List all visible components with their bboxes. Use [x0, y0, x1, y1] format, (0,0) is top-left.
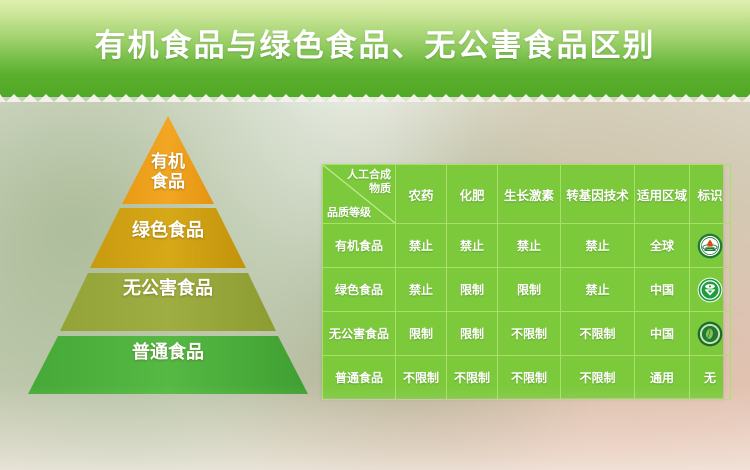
- column-header-fertilizer: 化肥: [447, 165, 498, 224]
- table-corner-cell: 人工合成 物质 品质等级: [323, 165, 396, 224]
- cell-green-growth-hormone: 限制: [498, 268, 561, 312]
- cell-ordinary-mark: 无: [690, 356, 731, 400]
- cell-organic-pesticide: 禁止: [396, 224, 447, 268]
- row-header-organic: 有机食品: [323, 224, 396, 268]
- pyramid-tier-4[interactable]: [28, 336, 308, 394]
- organic-food-logo-icon: [697, 233, 723, 259]
- cell-green-mark: [690, 268, 731, 312]
- pyramid-tier-2[interactable]: [90, 208, 246, 268]
- cell-green-fertilizer: 限制: [447, 268, 498, 312]
- cell-ordinary-fertilizer: 不限制: [447, 356, 498, 400]
- column-header-region: 适用区域: [635, 165, 690, 224]
- cell-organic-mark: [690, 224, 731, 268]
- infographic-canvas: 有机食品与绿色食品、无公害食品区别: [0, 0, 750, 470]
- cell-pollution-free-gmo: 不限制: [561, 312, 635, 356]
- comparison-table: 人工合成 物质 品质等级 农药 化肥 生长激素 转基因技术 适用区域 标识 有机…: [322, 164, 723, 398]
- cell-pollution-free-mark: [690, 312, 731, 356]
- cell-pollution-free-growth-hormone: 不限制: [498, 312, 561, 356]
- column-header-gmo: 转基因技术: [561, 165, 635, 224]
- table-row: 绿色食品 禁止 限制 限制 禁止 中国: [323, 268, 731, 312]
- row-header-green-food: 绿色食品: [323, 268, 396, 312]
- table-header-row: 人工合成 物质 品质等级 农药 化肥 生长激素 转基因技术 适用区域 标识: [323, 165, 731, 224]
- header-banner: 有机食品与绿色食品、无公害食品区别: [0, 0, 750, 97]
- cell-pollution-free-fertilizer: 限制: [447, 312, 498, 356]
- cell-green-region: 中国: [635, 268, 690, 312]
- cell-pollution-free-pesticide: 限制: [396, 312, 447, 356]
- cell-ordinary-gmo: 不限制: [561, 356, 635, 400]
- green-food-logo-icon: [697, 277, 723, 303]
- pollution-free-food-logo-icon: [697, 321, 723, 347]
- cell-ordinary-growth-hormone: 不限制: [498, 356, 561, 400]
- table-row: 有机食品 禁止 禁止 禁止 禁止 全球: [323, 224, 731, 268]
- corner-label-columns-line2: 物质: [331, 183, 391, 197]
- corner-label-columns-line1: 人工合成: [331, 169, 391, 183]
- corner-label-columns: 人工合成 物质: [331, 169, 391, 197]
- cell-organic-fertilizer: 禁止: [447, 224, 498, 268]
- cell-ordinary-region: 通用: [635, 356, 690, 400]
- pyramid-svg: [18, 110, 318, 400]
- corner-label-rows: 品质等级: [327, 207, 385, 220]
- column-header-growth-hormone: 生长激素: [498, 165, 561, 224]
- cell-organic-region: 全球: [635, 224, 690, 268]
- cell-green-pesticide: 禁止: [396, 268, 447, 312]
- table-row: 普通食品 不限制 不限制 不限制 不限制 通用 无: [323, 356, 731, 400]
- food-grade-pyramid: 有机 食品 绿色食品 无公害食品 普通食品: [18, 110, 318, 400]
- row-header-pollution-free: 无公害食品: [323, 312, 396, 356]
- pyramid-tier-3[interactable]: [60, 273, 276, 331]
- cell-pollution-free-region: 中国: [635, 312, 690, 356]
- column-header-mark: 标识: [690, 165, 731, 224]
- cell-green-gmo: 禁止: [561, 268, 635, 312]
- row-header-ordinary: 普通食品: [323, 356, 396, 400]
- zigzag-divider: [0, 86, 750, 102]
- column-header-pesticide: 农药: [396, 165, 447, 224]
- cell-organic-gmo: 禁止: [561, 224, 635, 268]
- cell-organic-growth-hormone: 禁止: [498, 224, 561, 268]
- page-title: 有机食品与绿色食品、无公害食品区别: [0, 20, 750, 65]
- table-row: 无公害食品 限制 限制 不限制 不限制 中国: [323, 312, 731, 356]
- pyramid-tier-1[interactable]: [122, 116, 214, 204]
- cell-ordinary-pesticide: 不限制: [396, 356, 447, 400]
